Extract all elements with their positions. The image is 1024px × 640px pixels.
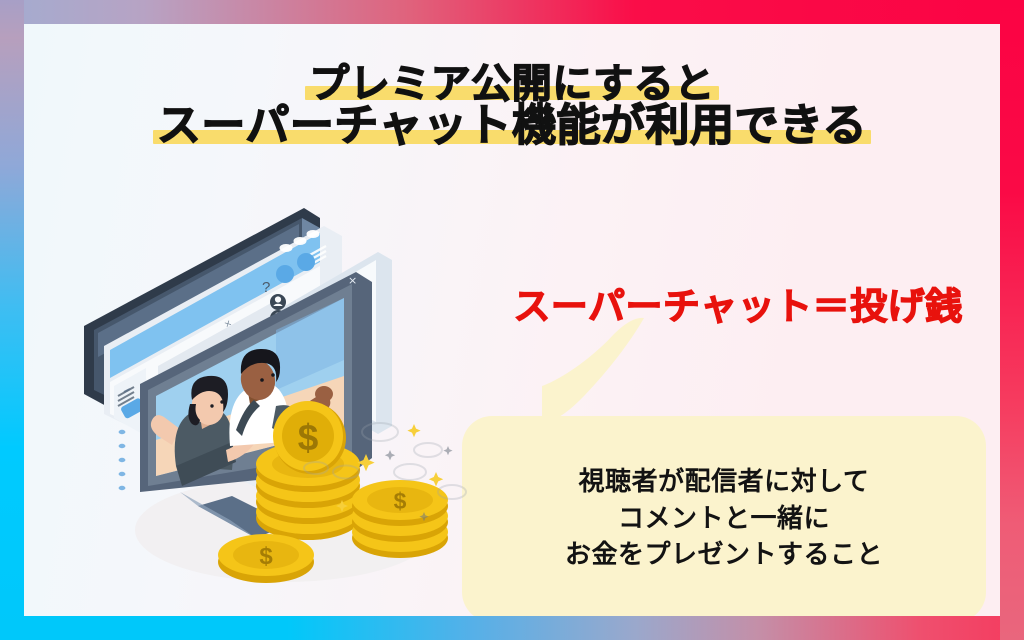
coin-flat-front: $ [218, 534, 314, 583]
callout-bubble-group: 視聴者が配信者に対して コメントと一緒に お金をプレゼントすること [462, 316, 1000, 616]
svg-text:$: $ [259, 543, 273, 570]
content-panel: プレミア公開にすると スーパーチャット機能が利用できる スーパーチャット＝投げ銭… [24, 24, 1000, 616]
frame-border-right [1000, 0, 1024, 640]
callout-line-2: コメントと一緒に [618, 501, 830, 538]
frame-border-top [0, 0, 1024, 24]
frame-border-left [0, 0, 24, 640]
callout-bubble-tail [540, 316, 650, 424]
illustration-livestream-superchat: × ? [80, 200, 480, 600]
callout-bubble: 視聴者が配信者に対して コメントと一緒に お金をプレゼントすること [462, 416, 986, 616]
svg-text:×: × [348, 274, 357, 287]
coin-stack-short: $ [352, 480, 448, 558]
headline-line-2-text: スーパーチャット機能が利用できる [157, 104, 867, 148]
headline-block: プレミア公開にすると スーパーチャット機能が利用できる [24, 64, 1000, 148]
headline-line-2: スーパーチャット機能が利用できる [157, 104, 867, 148]
callout-line-1: 視聴者が配信者に対して [579, 464, 870, 501]
slide-root: プレミア公開にすると スーパーチャット機能が利用できる スーパーチャット＝投げ銭… [0, 0, 1024, 640]
frame-border-bottom [0, 616, 1024, 640]
headline-line-1-text: プレミア公開にすると [309, 64, 714, 104]
svg-text:$: $ [298, 417, 319, 458]
svg-text:?: ? [262, 279, 270, 296]
svg-text:$: $ [394, 488, 407, 514]
callout-line-3: お金をプレゼントすること [565, 537, 883, 574]
headline-line-1: プレミア公開にすると [309, 64, 714, 104]
